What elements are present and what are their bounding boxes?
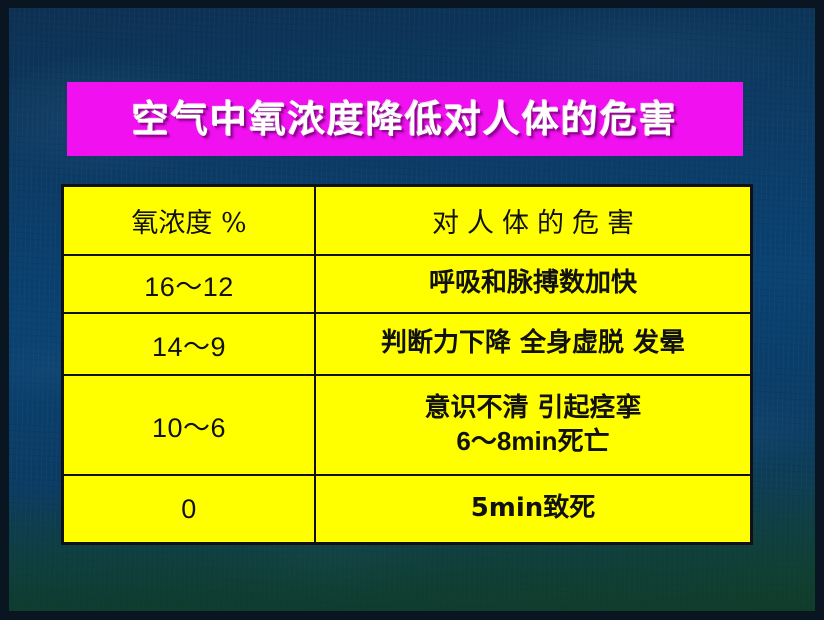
table-row: 14～9 判断力下降 全身虚脱 发晕 bbox=[63, 313, 751, 375]
hazard-line-primary: 意识不清 引起痉挛 bbox=[424, 393, 641, 423]
oxygen-hazard-table: 氧浓度 % 对人体的危害 16～12 呼吸和脉搏数加快 14～9 判断力下降 全… bbox=[62, 185, 752, 544]
column-header-concentration: 氧浓度 % bbox=[63, 186, 315, 255]
cell-concentration: 14～9 bbox=[63, 313, 315, 375]
cell-concentration: 10～6 bbox=[63, 375, 315, 475]
table-header-row: 氧浓度 % 对人体的危害 bbox=[63, 186, 751, 255]
cell-hazard: 判断力下降 全身虚脱 发晕 bbox=[315, 313, 751, 375]
cell-hazard: 意识不清 引起痉挛 6～8min死亡 bbox=[315, 375, 751, 475]
hazard-line-secondary: 6～8min死亡 bbox=[316, 425, 750, 458]
column-header-hazard: 对人体的危害 bbox=[315, 186, 751, 255]
page-title: 空气中氧浓度降低对人体的危害 bbox=[132, 101, 678, 138]
hazard-line-primary: 5min致死 bbox=[471, 493, 596, 523]
cell-concentration: 16～12 bbox=[63, 255, 315, 313]
cell-hazard: 呼吸和脉搏数加快 bbox=[315, 255, 751, 313]
hazard-line-primary: 判断力下降 全身虚脱 发晕 bbox=[381, 328, 685, 358]
cell-concentration: 0 bbox=[63, 475, 315, 543]
slide-canvas: 空气中氧浓度降低对人体的危害 氧浓度 % 对人体的危害 16～12 呼吸和脉搏数… bbox=[0, 0, 824, 620]
title-banner: 空气中氧浓度降低对人体的危害 bbox=[67, 82, 743, 156]
table-row: 16～12 呼吸和脉搏数加快 bbox=[63, 255, 751, 313]
hazard-line-primary: 呼吸和脉搏数加快 bbox=[429, 268, 637, 298]
cell-hazard: 5min致死 bbox=[315, 475, 751, 543]
table-row: 0 5min致死 bbox=[63, 475, 751, 543]
table-row: 10～6 意识不清 引起痉挛 6～8min死亡 bbox=[63, 375, 751, 475]
